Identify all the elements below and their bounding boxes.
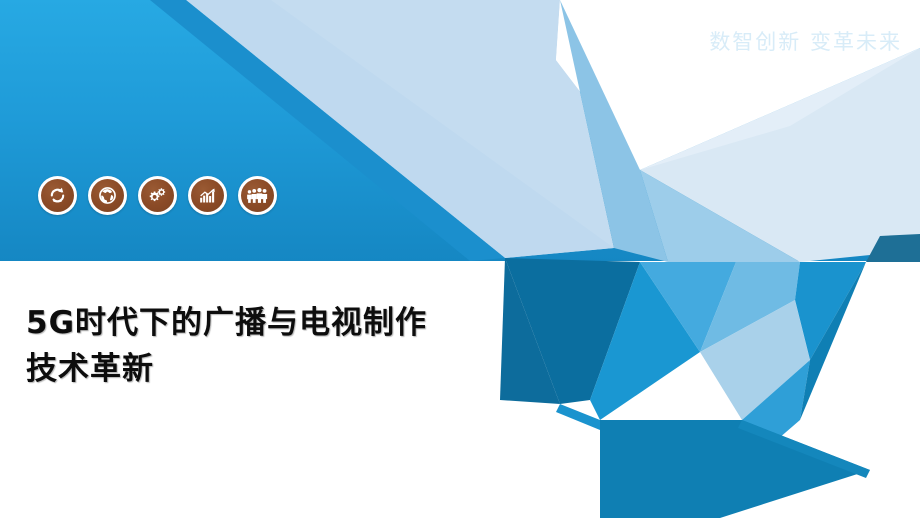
gears-icon-disc xyxy=(141,179,174,212)
people-group-glyph xyxy=(246,184,269,207)
slide-tagline: 数智创新 变革未来 xyxy=(709,26,902,56)
gears-icon[interactable] xyxy=(138,176,177,215)
refresh-cycle-glyph xyxy=(47,185,68,206)
people-group-icon[interactable] xyxy=(238,176,277,215)
icon-strip xyxy=(38,176,277,215)
refresh-cycle-icon[interactable] xyxy=(38,176,77,215)
slide-title-line-1: 5G时代下的广播与电视制作 xyxy=(26,300,566,346)
poly-connector-small xyxy=(556,404,600,430)
low-poly-background-artwork xyxy=(0,0,920,518)
gears-glyph xyxy=(147,185,169,207)
globe-icon[interactable] xyxy=(88,176,127,215)
slide-title-line-2: 技术革新 xyxy=(26,346,566,392)
bar-chart-growth-icon[interactable] xyxy=(188,176,227,215)
presentation-slide: 数智创新 变革未来 xyxy=(0,0,920,518)
bar-chart-growth-icon-disc xyxy=(191,179,224,212)
globe-glyph xyxy=(97,185,118,206)
people-group-icon-disc xyxy=(241,179,274,212)
globe-icon-disc xyxy=(91,179,124,212)
poly-bottom-tail-plane xyxy=(600,420,870,518)
bar-chart-growth-glyph xyxy=(197,185,218,206)
refresh-cycle-icon-disc xyxy=(41,179,74,212)
slide-title: 5G时代下的广播与电视制作 技术革新 xyxy=(26,300,566,392)
